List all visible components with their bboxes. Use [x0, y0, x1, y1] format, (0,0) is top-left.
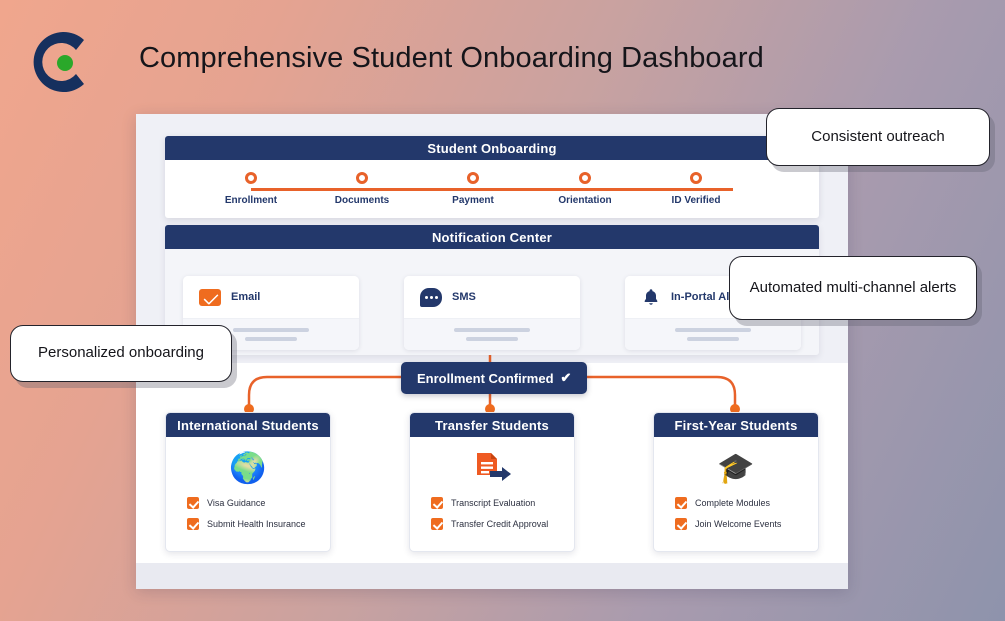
- checkbox-checked-icon[interactable]: [675, 518, 687, 530]
- callout-consistent-outreach: Consistent outreach: [766, 108, 990, 166]
- segment-card-international-students[interactable]: International Students 🌍 Visa Guidance S…: [165, 412, 331, 552]
- notification-card-head: Email: [183, 276, 359, 318]
- segment-task-item[interactable]: Submit Health Insurance: [187, 518, 330, 530]
- notification-card-head: SMS: [404, 276, 580, 318]
- segment-task-item[interactable]: Join Welcome Events: [675, 518, 818, 530]
- envelope-icon: [199, 289, 221, 306]
- segment-task-label: Transcript Evaluation: [451, 498, 535, 508]
- student-segment-cards: International Students 🌍 Visa Guidance S…: [165, 412, 819, 552]
- dashboard-footer-strip: [136, 563, 848, 589]
- callout-automated-alerts: Automated multi-channel alerts: [729, 256, 977, 320]
- notification-card-label: SMS: [452, 291, 476, 303]
- status-badge: Enrollment Confirmed ✔: [401, 362, 587, 394]
- timeline-step-documents[interactable]: Documents: [302, 172, 422, 206]
- checkbox-checked-icon[interactable]: [431, 518, 443, 530]
- checkbox-checked-icon[interactable]: [431, 497, 443, 509]
- timeline-dot-icon: [579, 172, 591, 184]
- notification-card-placeholder: [404, 318, 580, 350]
- segment-card-first-year-students[interactable]: First-Year Students 🎓 Complete Modules J…: [653, 412, 819, 552]
- notification-card-placeholder: [625, 318, 801, 350]
- segment-task-list: Complete Modules Join Welcome Events: [654, 497, 818, 530]
- timeline-title: Student Onboarding: [427, 141, 556, 156]
- timeline-step-label: Payment: [452, 195, 494, 206]
- notification-body: Email SMS: [165, 249, 819, 355]
- segment-task-list: Transcript Evaluation Transfer Credit Ap…: [410, 497, 574, 530]
- segment-card-body: 🎓 Complete Modules Join Welcome Events: [654, 437, 818, 551]
- segment-task-item[interactable]: Complete Modules: [675, 497, 818, 509]
- placeholder-line: [245, 337, 297, 341]
- segment-card-title: First-Year Students: [675, 418, 798, 433]
- notification-header-bar: Notification Center: [165, 225, 819, 249]
- notification-card-label: Email: [231, 291, 260, 303]
- timeline-step-payment[interactable]: Payment: [413, 172, 533, 206]
- segment-task-label: Visa Guidance: [207, 498, 265, 508]
- dashboard-panel: Student Onboarding Enrollment Documents …: [136, 114, 848, 589]
- segment-task-label: Complete Modules: [695, 498, 770, 508]
- globe-icon: 🌍: [229, 449, 266, 487]
- segment-task-label: Join Welcome Events: [695, 519, 781, 529]
- notification-channel-list: Email SMS: [165, 276, 819, 350]
- placeholder-line: [466, 337, 518, 341]
- timeline-step-orientation[interactable]: Orientation: [525, 172, 645, 206]
- status-badge-label: Enrollment Confirmed: [417, 371, 554, 386]
- checkbox-checked-icon[interactable]: [675, 497, 687, 509]
- chat-bubble-icon: [420, 288, 442, 307]
- segment-card-body: 🌍 Visa Guidance Submit Health Insurance: [166, 437, 330, 551]
- placeholder-line: [675, 328, 751, 332]
- notification-card-sms[interactable]: SMS: [404, 276, 580, 350]
- callout-personalized-onboarding: Personalized onboarding: [10, 325, 232, 382]
- timeline-step-enrollment[interactable]: Enrollment: [191, 172, 311, 206]
- check-icon: ✔: [561, 370, 572, 386]
- document-transfer-icon: [472, 449, 512, 487]
- placeholder-line: [687, 337, 739, 341]
- segment-task-list: Visa Guidance Submit Health Insurance: [166, 497, 330, 530]
- timeline-header-bar: Student Onboarding: [165, 136, 819, 160]
- segment-card-transfer-students[interactable]: Transfer Students Trans: [409, 412, 575, 552]
- timeline-step-label: Enrollment: [225, 195, 277, 206]
- placeholder-line: [233, 328, 309, 332]
- timeline-dot-icon: [356, 172, 368, 184]
- timeline-step-label: Documents: [335, 195, 389, 206]
- segment-task-item[interactable]: Transfer Credit Approval: [431, 518, 574, 530]
- page-title: Comprehensive Student Onboarding Dashboa…: [139, 42, 764, 75]
- segment-task-label: Transfer Credit Approval: [451, 519, 548, 529]
- graduation-cap-icon: 🎓: [717, 449, 754, 487]
- segment-task-label: Submit Health Insurance: [207, 519, 306, 529]
- notification-center: Notification Center Email: [165, 225, 819, 355]
- timeline-dot-icon: [245, 172, 257, 184]
- segment-task-item[interactable]: Visa Guidance: [187, 497, 330, 509]
- bell-icon: [641, 287, 661, 307]
- segment-card-header: International Students: [166, 413, 330, 437]
- segment-task-item[interactable]: Transcript Evaluation: [431, 497, 574, 509]
- timeline-dot-icon: [467, 172, 479, 184]
- page-header: Comprehensive Student Onboarding Dashboa…: [0, 0, 1005, 114]
- checkbox-checked-icon[interactable]: [187, 497, 199, 509]
- segment-card-header: First-Year Students: [654, 413, 818, 437]
- segment-card-body: Transcript Evaluation Transfer Credit Ap…: [410, 437, 574, 551]
- timeline-step-label: Orientation: [558, 195, 611, 206]
- timeline-step-label: ID Verified: [672, 195, 721, 206]
- brand-c-logo: [26, 22, 104, 102]
- student-onboarding-timeline: Student Onboarding Enrollment Documents …: [165, 136, 819, 218]
- placeholder-line: [454, 328, 530, 332]
- timeline-dot-icon: [690, 172, 702, 184]
- notification-center-title: Notification Center: [432, 230, 552, 245]
- segment-card-title: Transfer Students: [435, 418, 549, 433]
- segment-card-header: Transfer Students: [410, 413, 574, 437]
- checkbox-checked-icon[interactable]: [187, 518, 199, 530]
- segment-card-title: International Students: [177, 418, 319, 433]
- timeline-step-id-verified[interactable]: ID Verified: [636, 172, 756, 206]
- timeline-body: Enrollment Documents Payment Orientation…: [165, 160, 819, 218]
